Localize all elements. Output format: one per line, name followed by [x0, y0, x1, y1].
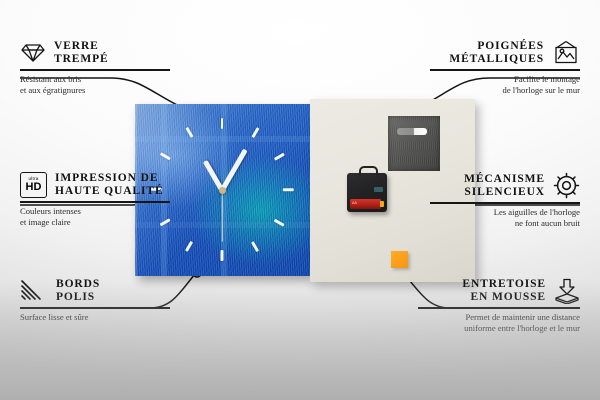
- callout-subtitle-line1: Couleurs intenses: [20, 206, 170, 217]
- clock-tick: [221, 118, 224, 129]
- callout-subtitle-line2: uniforme entre l'horloge et le mur: [418, 323, 580, 334]
- callout-rule: [20, 307, 170, 309]
- callout-subtitle-line2: et aux égratignures: [20, 85, 170, 96]
- callout-title-line2: TREMPÉ: [54, 53, 109, 66]
- callout-title-line2: EN MOUSSE: [462, 291, 546, 304]
- callout-poignees-metalliques: POIGNÉES MÉTALLIQUES Facilite le montage…: [430, 40, 580, 96]
- callout-subtitle-line2: et image claire: [20, 217, 170, 228]
- battery-label: AA: [352, 201, 357, 205]
- clock-tick: [221, 250, 224, 261]
- callout-title-line2: SILENCIEUX: [464, 186, 545, 199]
- callout-subtitle-line1: Facilite le montage: [430, 74, 580, 85]
- mechanism-hook: [359, 166, 378, 177]
- callout-mecanisme-silencieux: MÉCANISME SILENCIEUX Les aiguilles de l'…: [430, 172, 580, 229]
- callout-title-line2: MÉTALLIQUES: [449, 53, 544, 66]
- callout-title-line1: POIGNÉES: [449, 40, 544, 53]
- callout-bords-polis: BORDS POLIS Surface lisse et sûre: [20, 278, 170, 323]
- callout-title-line2: HAUTE QUALITÉ: [55, 185, 164, 198]
- callout-subtitle-line2: de l'horloge sur le mur: [430, 85, 580, 96]
- callout-subtitle-line1: Surface lisse et sûre: [20, 312, 170, 323]
- diamond-icon: [20, 43, 46, 63]
- callout-impression-haute-qualite: ultra HD IMPRESSION DE HAUTE QUALITÉ Cou…: [20, 172, 170, 228]
- callout-title-line1: MÉCANISME: [464, 173, 545, 186]
- hanger-slot: [397, 128, 427, 135]
- clock-second-hand: [221, 190, 222, 242]
- callout-verre-trempe: VERRE TREMPÉ Résistant aux bris et aux é…: [20, 40, 170, 96]
- callout-subtitle-line2: ne font aucun bruit: [430, 218, 580, 229]
- callout-subtitle-line1: Permet de maintenir une distance: [418, 312, 580, 323]
- callout-title-line1: IMPRESSION DE: [55, 172, 164, 185]
- callout-title-line1: ENTRETOISE: [462, 278, 546, 291]
- polished-edge-lines-icon: [20, 279, 48, 303]
- gear-icon: [553, 172, 580, 199]
- callout-title-line1: VERRE: [54, 40, 109, 53]
- foam-spacer: [391, 251, 408, 268]
- callout-entretoise-en-mousse: ENTRETOISE EN MOUSSE Permet de maintenir…: [418, 278, 580, 334]
- foam-spacer-arrow-icon: [554, 278, 580, 304]
- clock-tick: [283, 188, 294, 191]
- battery: AA: [350, 199, 381, 209]
- clock-mechanism: AA: [347, 173, 387, 212]
- callout-rule: [430, 69, 580, 71]
- callout-rule: [20, 201, 170, 203]
- callout-title-line2: POLIS: [56, 291, 100, 304]
- callout-rule: [418, 307, 580, 309]
- metal-hanger-plate: [388, 116, 440, 171]
- callout-subtitle-line1: Les aiguilles de l'horloge: [430, 207, 580, 218]
- callout-rule: [430, 202, 580, 204]
- picture-hanger-icon: [552, 40, 580, 66]
- battery-tip: [380, 201, 384, 207]
- ultra-hd-icon: ultra HD: [20, 172, 47, 198]
- callout-title-line1: BORDS: [56, 278, 100, 291]
- callout-subtitle-line1: Résistant aux bris: [20, 74, 170, 85]
- infographic-canvas: AA VERRE TREMPÉ Résistant aux bris et au…: [0, 0, 600, 400]
- ultra-hd-icon-large-text: HD: [26, 182, 42, 193]
- mechanism-detail: [374, 187, 383, 192]
- callout-rule: [20, 69, 170, 71]
- clock-center-cap: [219, 187, 226, 194]
